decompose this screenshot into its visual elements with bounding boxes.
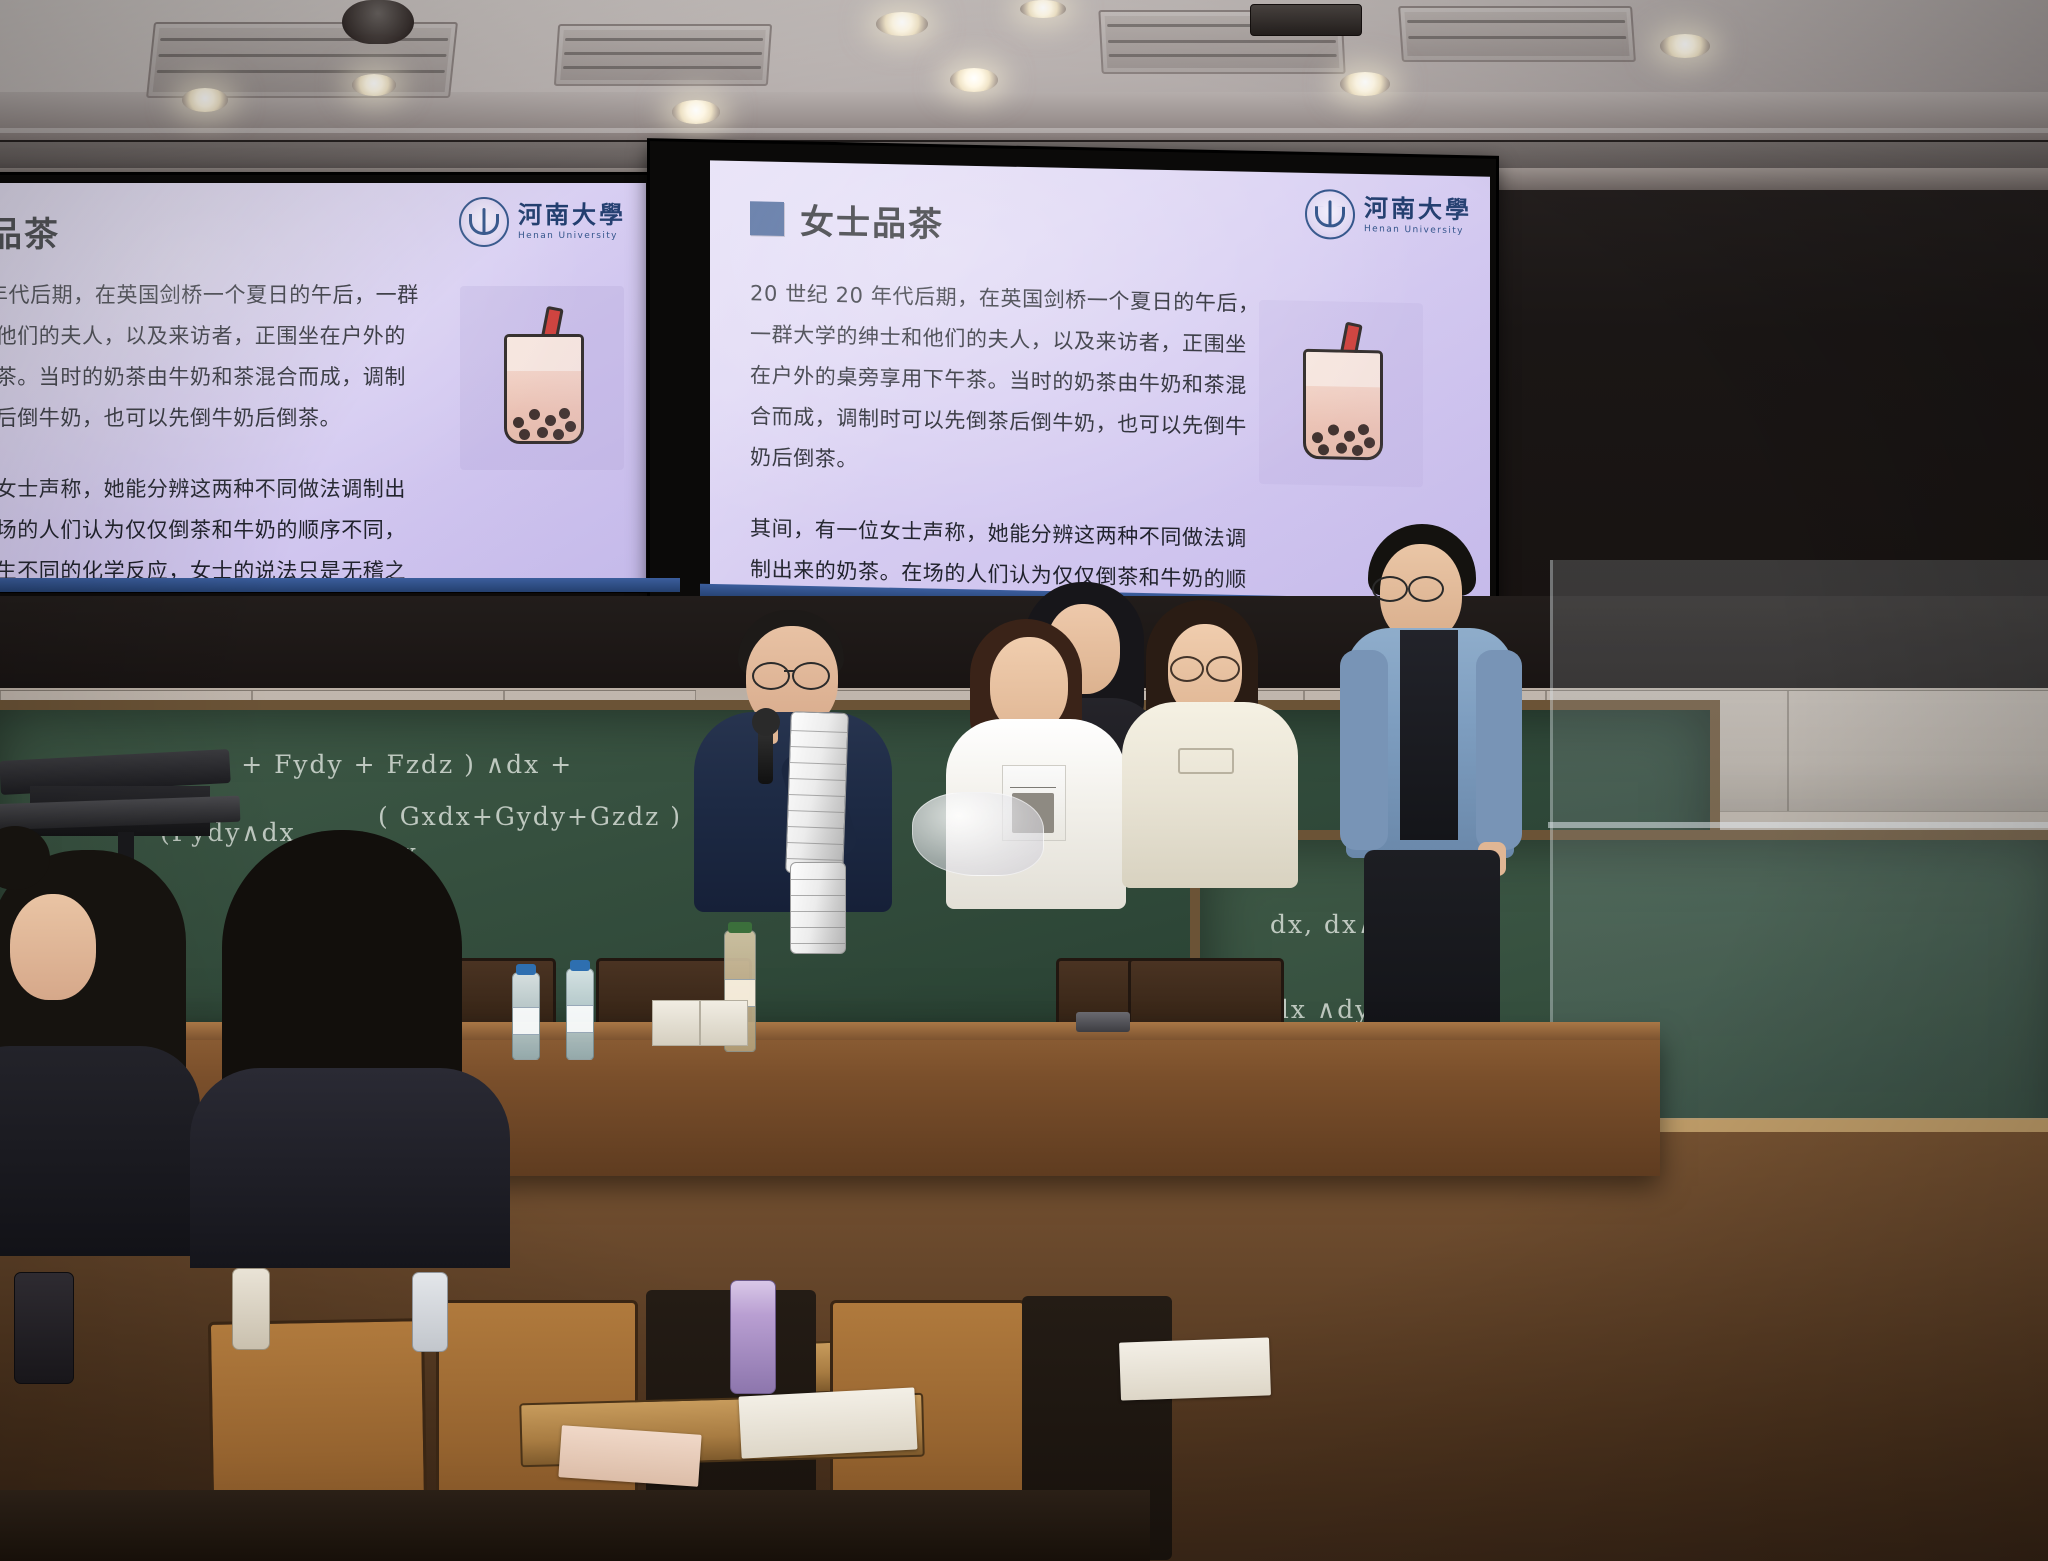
tapioca-pearls (507, 399, 581, 441)
slide-paragraph-2: 其间，有一位女士声称，她能分辨这两种不同做法调制出来的奶茶。在场的人们认为仅仅倒… (0, 469, 426, 581)
jacket-arm (1476, 650, 1522, 850)
downlight (1340, 72, 1390, 96)
bottle-cap (728, 922, 752, 933)
bottle-label (567, 1005, 593, 1033)
water-tumbler (412, 1272, 448, 1352)
seated-student-center (200, 830, 500, 1260)
glasses-icon (1170, 656, 1204, 682)
air-vent (1398, 6, 1636, 62)
small-device (1076, 1012, 1130, 1032)
tapioca-pearls (1306, 414, 1380, 458)
downlight (182, 88, 228, 112)
glasses-icon (1206, 656, 1240, 682)
lecture-hall-photo: 河南大學 Henan University 女士品茶 20 世纪 20 年代后期… (0, 0, 2048, 1561)
projection-screen-left: 河南大學 Henan University 女士品茶 20 世纪 20 年代后期… (0, 183, 646, 581)
air-vent (554, 24, 772, 86)
downlight (950, 68, 998, 92)
slide-title-text: 女士品茶 (800, 194, 944, 246)
tea-foam (507, 337, 581, 371)
downlight (1660, 34, 1710, 58)
tea-cup-icon (504, 334, 584, 444)
university-crest-icon (459, 197, 509, 247)
student-beige-tshirt (1120, 598, 1300, 878)
university-logo: 河南大學 Henan University (459, 197, 626, 247)
bubble-tea-icon (486, 308, 598, 448)
bottle-cap (570, 960, 590, 971)
slide-title-right: 女士品茶 (750, 193, 944, 246)
title-bullet-marker (750, 201, 784, 236)
jacket-arm (1340, 650, 1388, 850)
foreground-shadow (0, 1490, 1150, 1561)
air-vent (146, 22, 458, 98)
ceiling-rail (0, 128, 2048, 133)
university-crest-icon (1305, 189, 1355, 240)
tea-foam (1306, 352, 1380, 388)
student-torso (0, 1046, 200, 1256)
tshirt-text (1010, 771, 1056, 788)
slide-paragraph-1: 20 世纪 20 年代后期，在英国剑桥一个夏日的午后，一群大学的绅士和他们的夫人… (750, 273, 1260, 488)
student-torso (190, 1068, 510, 1268)
downlight (1020, 0, 1066, 18)
water-tumbler (730, 1280, 776, 1394)
bottle-cap (516, 964, 536, 975)
paper-sheet (558, 1425, 701, 1487)
downlight (672, 100, 720, 124)
slide-body-left: 20 世纪 20 年代后期，在英国剑桥一个夏日的午后，一群大学的绅士和他们的夫人… (0, 275, 426, 581)
paper-sheet (1119, 1337, 1271, 1400)
university-name-en: Henan University (518, 231, 626, 241)
screen-bottom-trim (0, 578, 680, 592)
glasses-icon (792, 662, 830, 690)
bottle-label (513, 1007, 539, 1035)
slide-title-text: 女士品茶 (0, 207, 60, 256)
downlight (352, 74, 396, 96)
student-head (10, 894, 96, 1000)
plastic-bag (912, 792, 1044, 876)
water-bottle (512, 972, 540, 1060)
seated-student-left (0, 850, 200, 1230)
notebook (738, 1387, 917, 1458)
water-bottle (566, 968, 594, 1060)
glasses-icon (752, 662, 790, 690)
university-logo: 河南大學 Henan University (1305, 189, 1472, 242)
slide-title-left: 女士品茶 (0, 207, 60, 256)
glasses-icon (1408, 576, 1444, 602)
microphone-head (752, 708, 780, 736)
student-torso (1122, 702, 1298, 888)
inner-shirt (1400, 630, 1458, 840)
bubble-tea-icon (1285, 322, 1397, 464)
tissue-box (652, 1000, 700, 1046)
ceiling-speaker (1250, 4, 1362, 36)
downlight (876, 12, 928, 36)
sprinkler-head (342, 0, 414, 44)
slide-body-right: 20 世纪 20 年代后期，在英国剑桥一个夏日的午后，一群大学的绅士和他们的夫人… (750, 273, 1260, 607)
university-name-cn: 河南大學 (1364, 196, 1472, 222)
glasses-bridge (784, 670, 794, 672)
university-name-en: Henan University (1364, 224, 1472, 236)
tissue-box (700, 1000, 748, 1046)
university-name-cn: 河南大學 (518, 203, 626, 227)
projection-screen-left-frame: 河南大學 Henan University 女士品茶 20 世纪 20 年代后期… (0, 175, 670, 590)
stacked-paper-cups (785, 711, 849, 875)
glasses-icon (1372, 576, 1408, 602)
stacked-paper-cups (790, 862, 846, 954)
partition-rail (1548, 822, 2048, 828)
thermos (14, 1272, 74, 1384)
water-tumbler (232, 1268, 270, 1350)
slide-paragraph-1: 20 世纪 20 年代后期，在英国剑桥一个夏日的午后，一群大学的绅士和他们的夫人… (0, 275, 426, 439)
tshirt-graphic (1178, 748, 1234, 774)
tea-cup-icon (1303, 349, 1383, 461)
